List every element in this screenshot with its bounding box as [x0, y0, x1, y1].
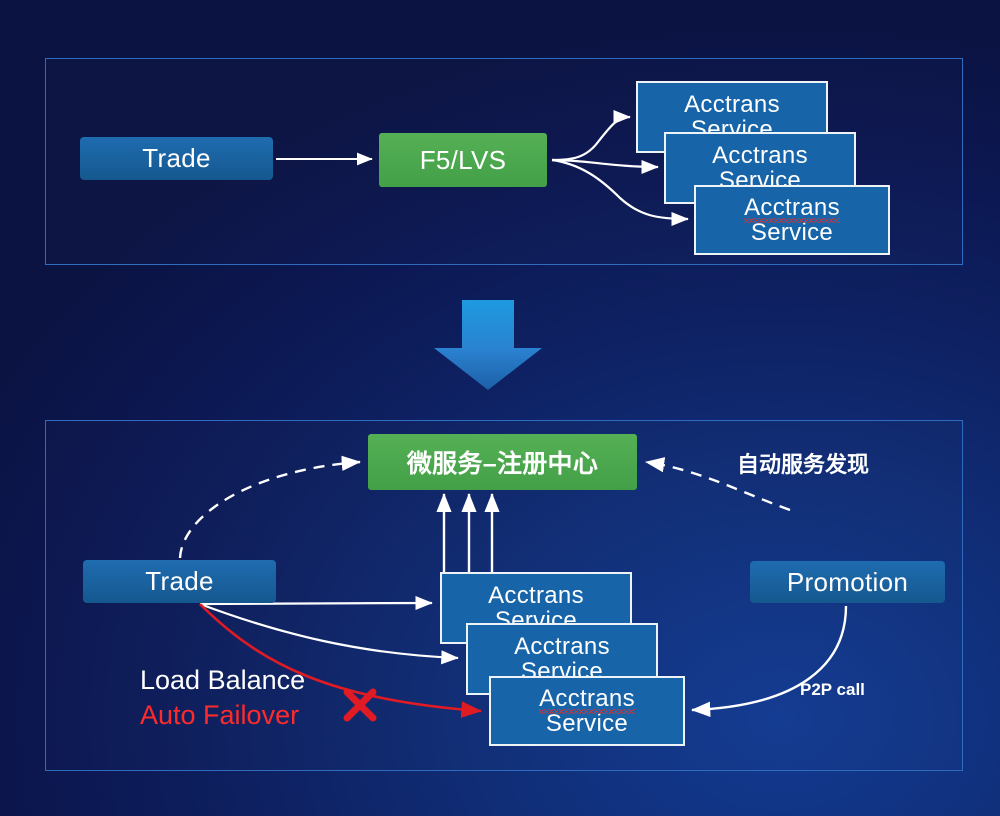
- node-acctrans-service-bottom-3[interactable]: Acctrans Service: [489, 676, 685, 746]
- node-acctrans-service-top-3-line1: Acctrans: [744, 195, 840, 220]
- node-trade-bottom[interactable]: Trade: [83, 560, 276, 603]
- node-acctrans-service-top-3[interactable]: Acctrans Service: [694, 185, 890, 255]
- node-acctrans-service-top-3-line2: Service: [751, 220, 833, 245]
- node-acctrans-service-top-1-line1: Acctrans: [684, 92, 780, 117]
- node-f5-lvs-label: F5/LVS: [420, 145, 507, 176]
- node-trade-top[interactable]: Trade: [80, 137, 273, 180]
- label-load-balance-text: Load Balance: [140, 665, 305, 695]
- label-auto-discovery-text: 自动服务发现: [737, 452, 869, 477]
- label-p2p-call: P2P call: [800, 680, 865, 700]
- label-load-balance: Load Balance: [140, 665, 305, 696]
- node-trade-bottom-label: Trade: [145, 566, 213, 597]
- node-f5-lvs[interactable]: F5/LVS: [379, 133, 547, 187]
- node-registry-center-label: 微服务–注册中心: [407, 444, 598, 480]
- node-acctrans-service-bottom-3-line1: Acctrans: [539, 686, 635, 711]
- node-promotion[interactable]: Promotion: [750, 561, 945, 603]
- node-registry-center[interactable]: 微服务–注册中心: [368, 434, 637, 490]
- node-trade-top-label: Trade: [142, 143, 210, 174]
- node-acctrans-service-bottom-2-line1: Acctrans: [514, 634, 610, 659]
- node-acctrans-service-bottom-1-line1: Acctrans: [488, 583, 584, 608]
- diagram-canvas: Trade F5/LVS Acctrans Service Acctrans S…: [0, 0, 1000, 816]
- label-auto-failover: Auto Failover: [140, 700, 299, 731]
- transition-down-arrow: [434, 300, 542, 390]
- node-promotion-label: Promotion: [787, 567, 908, 598]
- node-acctrans-service-top-2-line1: Acctrans: [712, 143, 808, 168]
- node-acctrans-service-bottom-3-line2: Service: [546, 711, 628, 736]
- label-auto-discovery: 自动服务发现: [737, 447, 869, 479]
- label-p2p-call-text: P2P call: [800, 680, 865, 699]
- label-auto-failover-text: Auto Failover: [140, 700, 299, 730]
